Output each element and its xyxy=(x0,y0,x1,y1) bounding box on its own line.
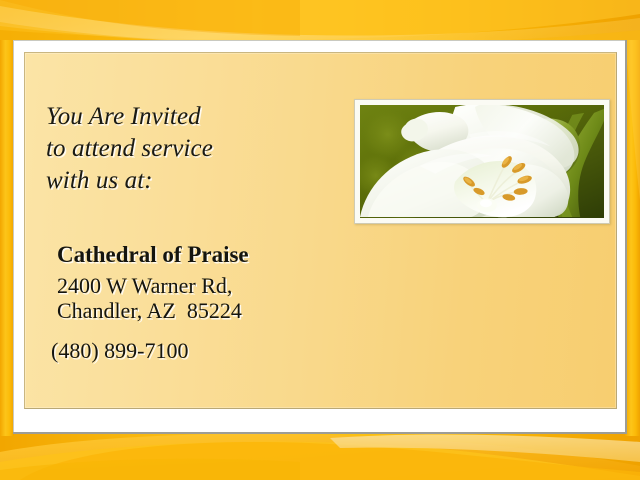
lily-photo xyxy=(360,105,604,218)
venue-city-state-zip: Chandler, AZ 85224 xyxy=(57,298,377,324)
lily-photo-frame xyxy=(354,99,610,224)
venue-address-block: Cathedral of Praise 2400 W Warner Rd, Ch… xyxy=(57,241,377,364)
invitation-line-2: to attend service xyxy=(46,133,346,165)
card-inner-panel: You Are Invited to attend service with u… xyxy=(24,52,617,409)
invitation-line-3: with us at: xyxy=(46,165,346,197)
invitation-line-1: You Are Invited xyxy=(46,101,346,133)
lily-photo-artwork xyxy=(360,105,604,218)
invitation-slide: You Are Invited to attend service with u… xyxy=(0,0,640,480)
invitation-heading: You Are Invited to attend service with u… xyxy=(46,101,346,197)
venue-phone: (480) 899-7100 xyxy=(51,338,377,364)
venue-name: Cathedral of Praise xyxy=(57,241,377,269)
venue-street: 2400 W Warner Rd, xyxy=(57,273,377,299)
